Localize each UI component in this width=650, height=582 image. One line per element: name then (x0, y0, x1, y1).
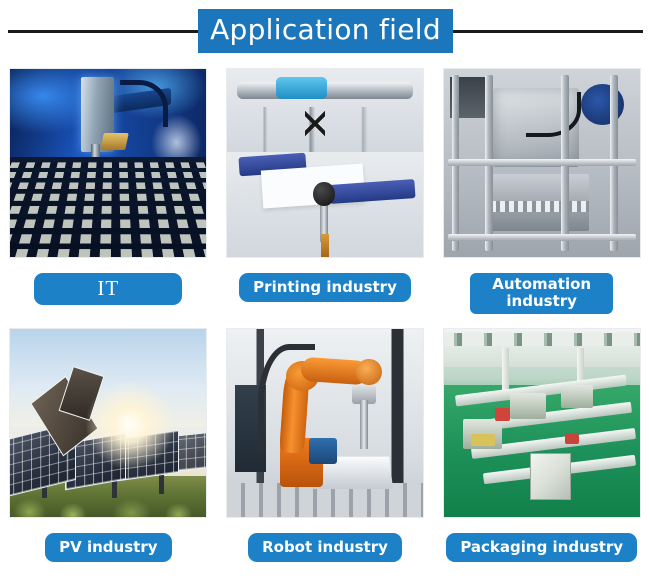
automation-assembly-cell-photo (443, 68, 641, 258)
card-pv[interactable]: PV industry (0, 322, 217, 582)
header-rule-right (453, 30, 643, 33)
screen-printing-machine-photo (226, 68, 424, 258)
grid-row-1: IT Printing in (0, 62, 650, 322)
card-it[interactable]: IT (0, 62, 217, 322)
solar-panel-array-photo (9, 328, 207, 518)
card-label-it[interactable]: IT (34, 273, 182, 305)
smt-pick-and-place-machine-photo (9, 68, 207, 258)
card-printing[interactable]: Printing industry (217, 62, 434, 322)
packaging-production-line-photo (443, 328, 641, 518)
page-title: Application field (198, 9, 453, 53)
card-robot[interactable]: Robot industry (217, 322, 434, 582)
card-label-automation[interactable]: Automation industry (470, 273, 613, 314)
card-packaging[interactable]: Packaging industry (433, 322, 650, 582)
industrial-robot-arm-photo (226, 328, 424, 518)
header-rule-left (8, 30, 198, 33)
grid-row-2: PV industry (0, 322, 650, 582)
card-label-printing[interactable]: Printing industry (239, 273, 411, 302)
card-label-packaging[interactable]: Packaging industry (446, 533, 637, 562)
card-label-robot[interactable]: Robot industry (248, 533, 402, 562)
card-label-pv[interactable]: PV industry (45, 533, 171, 562)
card-automation[interactable]: Automation industry (433, 62, 650, 322)
page-header: Application field (0, 0, 650, 62)
application-field-grid: IT Printing in (0, 62, 650, 582)
